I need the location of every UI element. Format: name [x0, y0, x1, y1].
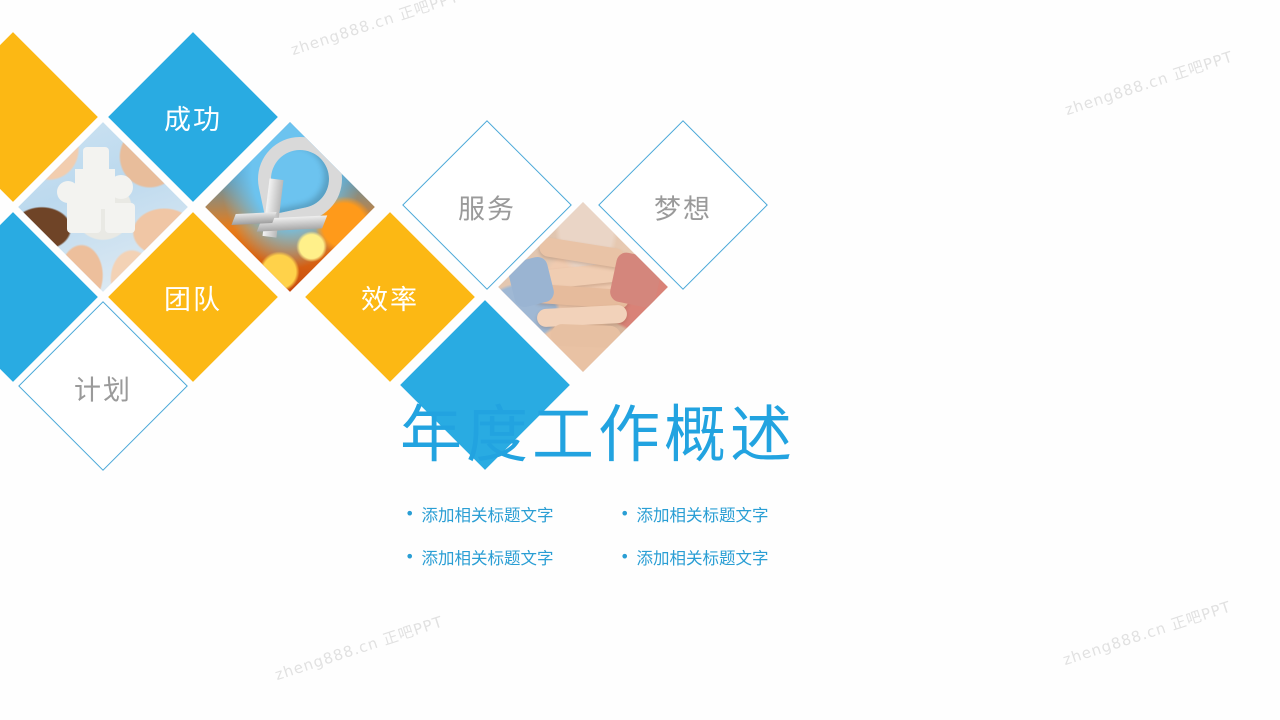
bullet-item-3[interactable]: • 添加相关标题文字 [405, 545, 620, 569]
bullet-marker-icon: • [620, 506, 629, 522]
bullet-item-4[interactable]: • 添加相关标题文字 [620, 545, 825, 569]
bullet-item-2[interactable]: • 添加相关标题文字 [620, 502, 825, 526]
bullet-marker-icon: • [620, 549, 629, 565]
bullet-list: • 添加相关标题文字 • 添加相关标题文字 • 添加相关标题文字 • 添加相关标… [405, 502, 825, 569]
bullet-item-4-text: 添加相关标题文字 [636, 545, 768, 569]
watermark: zheng888.cn 正吧PPT [1062, 46, 1236, 120]
bullet-item-2-text: 添加相关标题文字 [636, 502, 768, 526]
bullet-item-1-text: 添加相关标题文字 [421, 502, 553, 526]
slide-canvas: 成功 团队 效率 计划 服务 梦想 年度工作概述 • 添加相关标题文字 • 添加… [0, 0, 1280, 720]
bullet-marker-icon: • [405, 506, 414, 522]
bullet-item-1[interactable]: • 添加相关标题文字 [405, 502, 620, 526]
diamond-dream-label: 梦想 [623, 146, 743, 266]
slide-title: 年度工作概述 [400, 404, 796, 466]
watermark: zheng888.cn 正吧PPT [272, 611, 446, 685]
watermark: zheng888.cn 正吧PPT [1060, 596, 1234, 670]
diamond-service-label: 服务 [427, 146, 547, 266]
bullet-marker-icon: • [405, 549, 414, 565]
diamond-plan-label: 计划 [43, 327, 163, 447]
diamond-service[interactable]: 服务 [402, 120, 572, 290]
diamond-success[interactable]: 成功 [108, 32, 278, 202]
watermark: zheng888.cn 正吧PPT [288, 0, 462, 60]
diamond-success-label: 成功 [133, 57, 253, 177]
diamond-dream[interactable]: 梦想 [598, 120, 768, 290]
bullet-item-3-text: 添加相关标题文字 [421, 545, 553, 569]
diamond-plan[interactable]: 计划 [18, 301, 188, 471]
